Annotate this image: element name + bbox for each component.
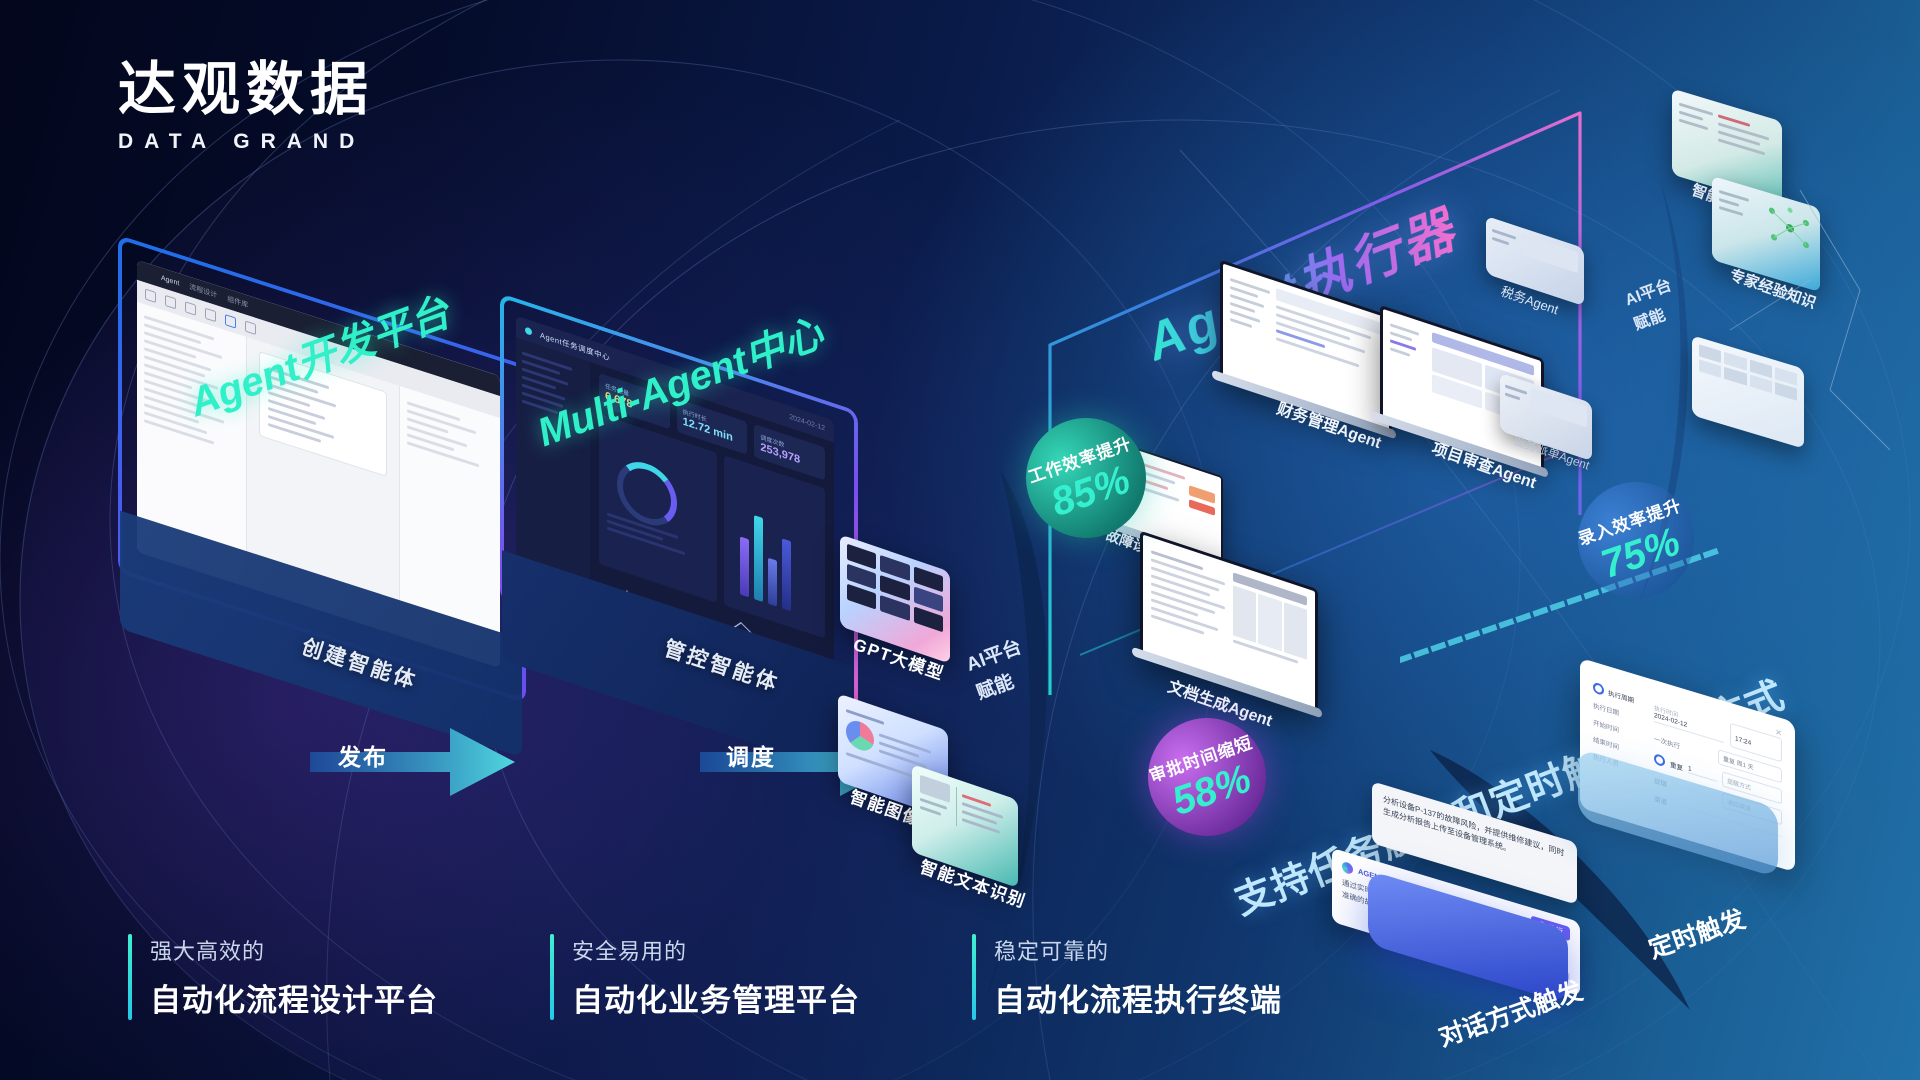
caption-main: 自动化流程设计平台 bbox=[150, 975, 438, 1020]
radio-selected-icon[interactable] bbox=[1654, 753, 1665, 767]
schedule-repeat-value[interactable]: 1 bbox=[1688, 765, 1717, 782]
dispatch-arrow-label: 调度 bbox=[726, 738, 776, 772]
brand-name-cn: 达观数据 bbox=[118, 60, 374, 118]
footer-caption-item: 稳定可靠的 自动化流程执行终端 bbox=[972, 934, 1282, 1020]
caption-main: 自动化业务管理平台 bbox=[572, 975, 860, 1020]
dev-screen-tab-3: 组件库 bbox=[227, 294, 248, 311]
schedule-time-value[interactable]: 17:24 bbox=[1735, 735, 1751, 747]
radio-selected-icon[interactable] bbox=[1593, 682, 1604, 696]
footer-caption-item: 安全易用的 自动化业务管理平台 bbox=[550, 934, 860, 1020]
caption-accent-bar bbox=[550, 934, 554, 1020]
caption-sub: 强大高效的 bbox=[150, 934, 438, 966]
bar-chart bbox=[724, 455, 825, 638]
caption-accent-bar bbox=[128, 934, 132, 1020]
caption-accent-bar bbox=[972, 934, 976, 1020]
toolbar-icon-active[interactable] bbox=[225, 314, 236, 329]
brand-name-en: DATA GRAND bbox=[118, 130, 374, 154]
agent-avatar-icon bbox=[1342, 860, 1353, 874]
publish-arrow-label: 发布 bbox=[338, 738, 388, 772]
toolbar-icon[interactable] bbox=[205, 307, 216, 322]
toolbar-icon[interactable] bbox=[165, 294, 176, 309]
right-connector-lines bbox=[1560, 120, 1920, 520]
toolbar-icon[interactable] bbox=[145, 288, 156, 303]
dev-screen-tab-label: Agent bbox=[161, 274, 179, 287]
infographic-canvas: 达观数据 DATA GRAND Agent 流程设计 组件库 bbox=[0, 0, 1920, 1080]
caption-main: 自动化流程执行终端 bbox=[994, 975, 1282, 1020]
caption-sub: 安全易用的 bbox=[572, 934, 860, 966]
caption-sub: 稳定可靠的 bbox=[994, 934, 1282, 966]
footer-caption-item: 强大高效的 自动化流程设计平台 bbox=[128, 934, 438, 1020]
ring-chart bbox=[599, 414, 717, 603]
multi-agent-logo-dot bbox=[525, 326, 532, 335]
toolbar-icon[interactable] bbox=[185, 301, 196, 316]
brand-logo: 达观数据 DATA GRAND bbox=[118, 60, 374, 154]
toolbar-icon[interactable] bbox=[245, 320, 256, 335]
schedule-repeat-label: 重复 bbox=[1670, 758, 1683, 772]
footer-captions: 强大高效的 自动化流程设计平台 安全易用的 自动化业务管理平台 稳定可靠的 自动… bbox=[128, 934, 1282, 1020]
